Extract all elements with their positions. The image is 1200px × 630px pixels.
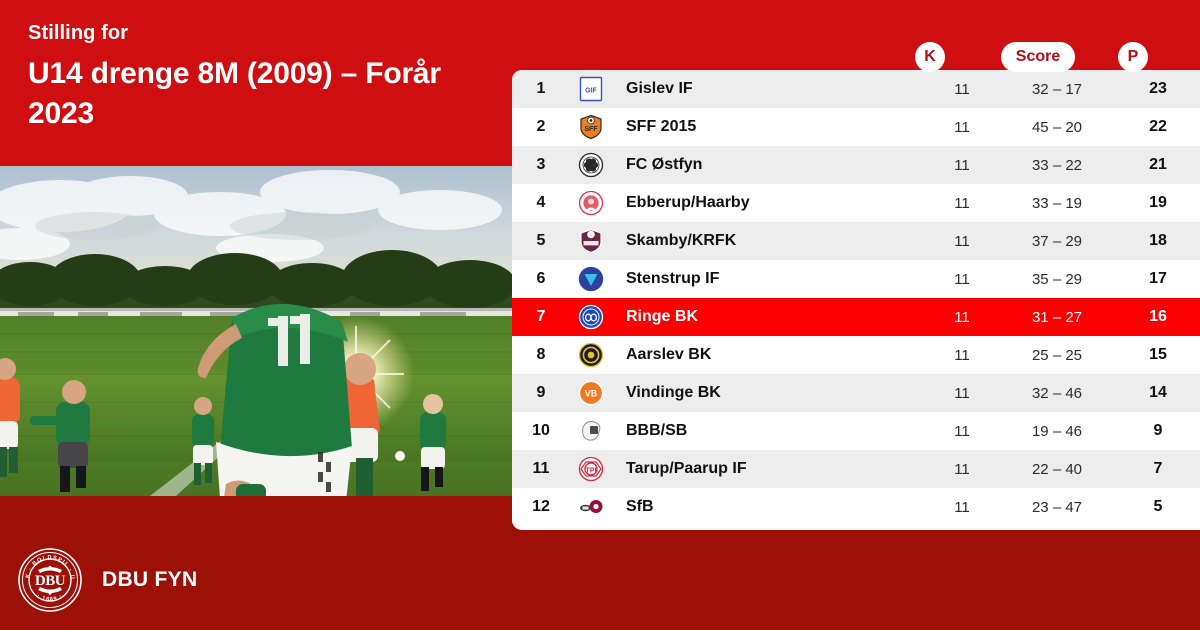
ringe-bk-crest-icon xyxy=(570,304,612,330)
points: 16 xyxy=(1116,308,1200,326)
points: 18 xyxy=(1116,232,1200,250)
row-position: 7 xyxy=(512,308,570,326)
goal-score: 32 – 46 xyxy=(998,385,1116,402)
footer: DANSK · BOLDSPIL · UNION · 1889 · DBU DB… xyxy=(0,530,1200,630)
row-position: 6 xyxy=(512,270,570,288)
table-row[interactable]: 10BBB/SB1119 – 469 xyxy=(512,412,1200,450)
goal-score: 33 – 19 xyxy=(998,195,1116,212)
team-name[interactable]: Tarup/Paarup IF xyxy=(612,460,926,478)
svg-text:DBU: DBU xyxy=(35,573,66,589)
row-position: 8 xyxy=(512,346,570,364)
kicker-label: Stilling for xyxy=(28,20,498,46)
table-row[interactable]: 2SFFSFF 20151145 – 2022 xyxy=(512,108,1200,146)
table-row[interactable]: 1GIFGislev IF1132 – 1723 xyxy=(512,70,1200,108)
goal-score: 32 – 17 xyxy=(998,81,1116,98)
stenstrup-if-crest-icon xyxy=(570,266,612,292)
team-name[interactable]: Vindinge BK xyxy=(612,384,926,402)
points: 5 xyxy=(1116,498,1200,516)
svg-text:SFF: SFF xyxy=(584,126,598,133)
sff-2015-crest-icon: SFF xyxy=(570,114,612,140)
matches-played: 11 xyxy=(926,119,998,136)
points: 14 xyxy=(1116,384,1200,402)
table-row[interactable]: 5Skamby/KRFK1137 – 2918 xyxy=(512,222,1200,260)
column-header-score: Score xyxy=(1001,42,1075,72)
table-row[interactable]: 7Ringe BK1131 – 2716 xyxy=(512,298,1200,336)
team-name[interactable]: SfB xyxy=(612,498,926,516)
matches-played: 11 xyxy=(926,309,998,326)
matches-played: 11 xyxy=(926,233,998,250)
bbb-sb-crest-icon xyxy=(570,418,612,444)
ebberup-haarby-crest-icon xyxy=(570,190,612,216)
vindinge-bk-crest-icon: VB xyxy=(570,380,612,406)
team-name[interactable]: Ringe BK xyxy=(612,308,926,326)
matches-played: 11 xyxy=(926,81,998,98)
matches-played: 11 xyxy=(926,195,998,212)
matches-played: 11 xyxy=(926,157,998,174)
points: 7 xyxy=(1116,460,1200,478)
row-position: 4 xyxy=(512,194,570,212)
goal-score: 37 – 29 xyxy=(998,233,1116,250)
matches-played: 11 xyxy=(926,461,998,478)
column-header-points: P xyxy=(1118,42,1148,72)
row-position: 10 xyxy=(512,422,570,440)
dbu-union-logo: DANSK · BOLDSPIL · UNION · 1889 · DBU xyxy=(18,548,82,612)
points: 22 xyxy=(1116,118,1200,136)
skamby-krfk-crest-icon xyxy=(570,228,612,254)
aarslev-bk-crest-icon xyxy=(570,342,612,368)
row-position: 12 xyxy=(512,498,570,516)
table-row[interactable]: 11TPITarup/Paarup IF1122 – 407 xyxy=(512,450,1200,488)
table-row[interactable]: 3FC Østfyn1133 – 2221 xyxy=(512,146,1200,184)
team-name[interactable]: Gislev IF xyxy=(612,80,926,98)
footer-label: DBU FYN xyxy=(102,568,197,592)
row-position: 5 xyxy=(512,232,570,250)
team-name[interactable]: Skamby/KRFK xyxy=(612,232,926,250)
table-row[interactable]: 12SfB1123 – 475 xyxy=(512,488,1200,526)
row-position: 1 xyxy=(512,80,570,98)
team-name[interactable]: SFF 2015 xyxy=(612,118,926,136)
standings-table: 1GIFGislev IF1132 – 17232SFFSFF 20151145… xyxy=(512,70,1200,530)
goal-score: 45 – 20 xyxy=(998,119,1116,136)
points: 15 xyxy=(1116,346,1200,364)
table-row[interactable]: 8Aarslev BK1125 – 2515 xyxy=(512,336,1200,374)
goal-score: 25 – 25 xyxy=(998,347,1116,364)
team-name[interactable]: Stenstrup IF xyxy=(612,270,926,288)
goal-score: 31 – 27 xyxy=(998,309,1116,326)
points: 21 xyxy=(1116,156,1200,174)
football-match-photo xyxy=(0,166,512,496)
points: 19 xyxy=(1116,194,1200,212)
gislev-if-crest-icon: GIF xyxy=(570,76,612,102)
points: 23 xyxy=(1116,80,1200,98)
points: 17 xyxy=(1116,270,1200,288)
team-name[interactable]: Aarslev BK xyxy=(612,346,926,364)
row-position: 11 xyxy=(512,460,570,478)
standings-graphic: Stilling for U14 drenge 8M (2009) – Forå… xyxy=(0,0,1200,630)
goal-score: 19 – 46 xyxy=(998,423,1116,440)
title-block: Stilling for U14 drenge 8M (2009) – Forå… xyxy=(28,20,498,134)
goal-score: 23 – 47 xyxy=(998,499,1116,516)
table-row[interactable]: 9VBVindinge BK1132 – 4614 xyxy=(512,374,1200,412)
matches-played: 11 xyxy=(926,423,998,440)
matches-played: 11 xyxy=(926,271,998,288)
matches-played: 11 xyxy=(926,347,998,364)
matches-played: 11 xyxy=(926,385,998,402)
row-position: 2 xyxy=(512,118,570,136)
sfb-crest-icon xyxy=(570,494,612,520)
tarup-paarup-if-crest-icon: TPI xyxy=(570,456,612,482)
team-name[interactable]: BBB/SB xyxy=(612,422,926,440)
table-row[interactable]: 6Stenstrup IF1135 – 2917 xyxy=(512,260,1200,298)
goal-score: 22 – 40 xyxy=(998,461,1116,478)
svg-text:GIF: GIF xyxy=(585,88,597,95)
column-header-matches: K xyxy=(915,42,945,72)
row-position: 9 xyxy=(512,384,570,402)
svg-text:TPI: TPI xyxy=(586,468,597,475)
goal-score: 33 – 22 xyxy=(998,157,1116,174)
points: 9 xyxy=(1116,422,1200,440)
row-position: 3 xyxy=(512,156,570,174)
fc-oestfyn-crest-icon xyxy=(570,152,612,178)
svg-text:· 1889 ·: · 1889 · xyxy=(36,593,64,603)
team-name[interactable]: Ebberup/Haarby xyxy=(612,194,926,212)
table-row[interactable]: 4Ebberup/Haarby1133 – 1919 xyxy=(512,184,1200,222)
goal-score: 35 – 29 xyxy=(998,271,1116,288)
page-title: U14 drenge 8M (2009) – Forår 2023 xyxy=(28,54,498,134)
team-name[interactable]: FC Østfyn xyxy=(612,156,926,174)
matches-played: 11 xyxy=(926,499,998,516)
svg-text:VB: VB xyxy=(585,389,598,399)
